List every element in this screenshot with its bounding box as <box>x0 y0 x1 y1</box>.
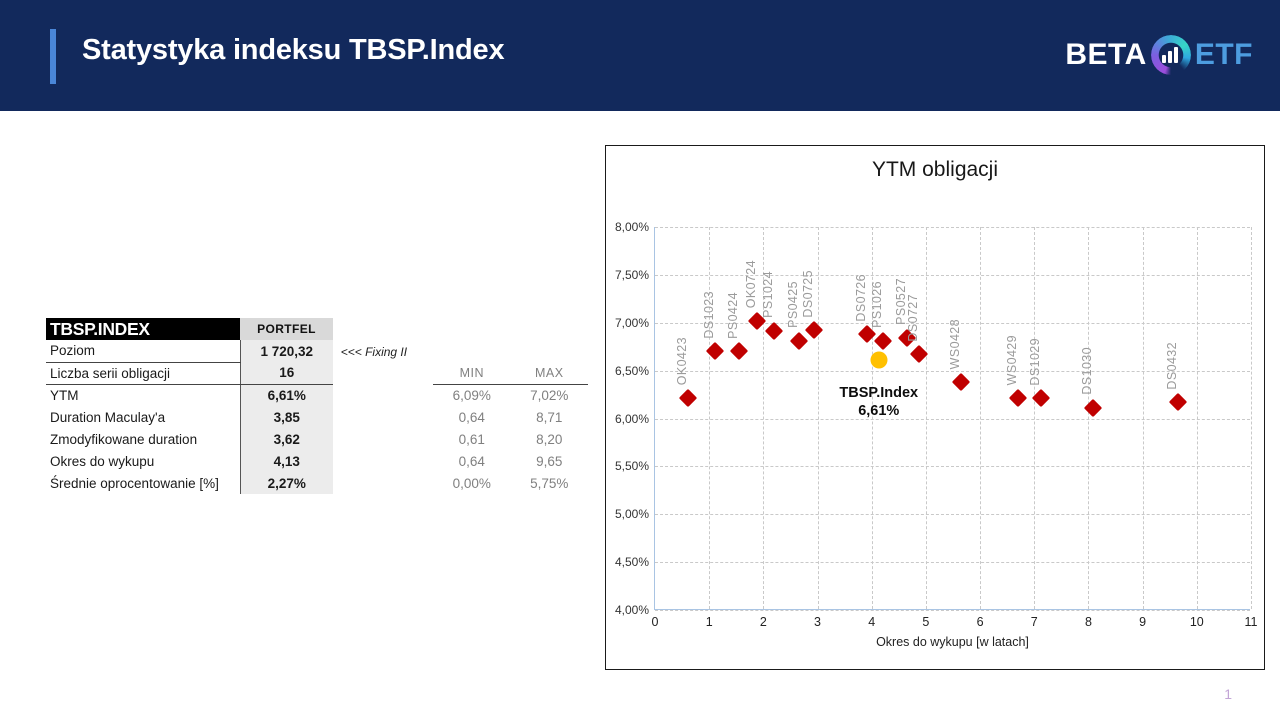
row-min-2: 6,09% <box>433 384 510 406</box>
gridline-horizontal <box>655 419 1250 420</box>
row-max-2: 7,02% <box>511 384 588 406</box>
row-label-4: Zmodyfikowane duration <box>46 428 240 450</box>
x-axis-tick-label: 11 <box>1245 615 1258 629</box>
chart-title: YTM obligacji <box>606 158 1264 182</box>
row-portfel-5: 4,13 <box>240 450 332 472</box>
annotation-line-1: TBSP.Index <box>839 384 918 402</box>
row-note-2 <box>333 384 433 406</box>
point-label-ds0725: DS0725 <box>801 270 815 318</box>
point-label-ok0724: OK0724 <box>744 260 758 308</box>
header-accent-bar <box>50 29 56 84</box>
slide-header: Statystyka indeksu TBSP.Index BETA ETF <box>0 0 1280 111</box>
row-note-0: <<< Fixing II <box>333 340 433 362</box>
bars-icon <box>1162 47 1178 63</box>
table-row: Okres do wykupu4,130,649,65 <box>46 450 588 472</box>
table-row: Zmodyfikowane duration3,620,618,20 <box>46 428 588 450</box>
gridline-horizontal <box>655 227 1250 228</box>
beta-etf-logo: BETA ETF <box>1065 33 1253 77</box>
row-min-3: 0,64 <box>433 406 510 428</box>
gridline-horizontal <box>655 466 1250 467</box>
point-label-ds0432: DS0432 <box>1165 342 1179 390</box>
data-point-ps0424 <box>730 342 748 360</box>
row-label-6: Średnie oprocentowanie [%] <box>46 472 240 494</box>
logo-text-etf: ETF <box>1195 40 1253 70</box>
row-portfel-4: 3,62 <box>240 428 332 450</box>
gridline-vertical <box>709 227 710 609</box>
x-axis-tick-label: 9 <box>1139 615 1146 629</box>
gridline-vertical <box>1197 227 1198 609</box>
row-note-3 <box>333 406 433 428</box>
row-max-4: 8,20 <box>511 428 588 450</box>
row-label-5: Okres do wykupu <box>46 450 240 472</box>
column-header-portfel: PORTFEL <box>240 318 332 340</box>
row-label-1: Liczba serii obligacji <box>46 362 240 384</box>
point-label-ws0428: WS0428 <box>948 319 962 369</box>
x-axis-tick-label: 6 <box>977 615 984 629</box>
data-point-ds0725 <box>805 321 823 339</box>
gridline-vertical <box>1143 227 1144 609</box>
y-axis-tick-label: 6,00% <box>615 412 649 426</box>
row-portfel-0: 1 720,32 <box>240 340 332 362</box>
row-min-5: 0,64 <box>433 450 510 472</box>
table-row: Duration Maculay'a3,850,648,71 <box>46 406 588 428</box>
point-label-ps0424: PS0424 <box>726 292 740 339</box>
y-axis-tick-label: 5,00% <box>615 507 649 521</box>
point-label-ds0726: DS0726 <box>854 274 868 322</box>
row-min-0 <box>433 340 510 362</box>
x-axis-tick-label: 3 <box>814 615 821 629</box>
y-axis-tick-label: 7,00% <box>615 316 649 330</box>
gridline-horizontal <box>655 514 1250 515</box>
x-axis-tick-label: 2 <box>760 615 767 629</box>
tbsp-statistics-table: TBSP.INDEXPORTFELPoziom1 720,32<<< Fixin… <box>46 318 588 494</box>
data-point-ps1024 <box>765 322 783 340</box>
row-max-5: 9,65 <box>511 450 588 472</box>
data-point-tbsp.index <box>870 352 887 369</box>
fixing-note: <<< Fixing II <box>341 345 407 359</box>
x-axis-tick-label: 5 <box>922 615 929 629</box>
point-label-ps1024: PS1024 <box>761 271 775 318</box>
row-note-1 <box>333 362 433 384</box>
x-axis-tick-label: 10 <box>1190 615 1204 629</box>
row-portfel-6: 2,27% <box>240 472 332 494</box>
row-min-1: MIN <box>433 362 510 384</box>
gridline-vertical <box>1088 227 1089 609</box>
tbsp-index-annotation: TBSP.Index 6,61% <box>839 384 918 420</box>
gridline-horizontal <box>655 371 1250 372</box>
point-label-ws0429: WS0429 <box>1005 335 1019 385</box>
point-label-ds1029: DS1029 <box>1028 338 1042 386</box>
data-point-ps1026 <box>873 332 891 350</box>
table-row: Poziom1 720,32<<< Fixing II <box>46 340 588 362</box>
data-point-ds0727 <box>910 345 928 363</box>
point-label-ds1023: DS1023 <box>702 291 716 339</box>
data-point-ws0428 <box>952 373 970 391</box>
point-label-ps0425: PS0425 <box>786 281 800 328</box>
gridline-vertical <box>818 227 819 609</box>
table-row: Średnie oprocentowanie [%]2,27%0,00%5,75… <box>46 472 588 494</box>
y-axis-tick-label: 4,50% <box>615 555 649 569</box>
row-min-6: 0,00% <box>433 472 510 494</box>
data-point-ws0429 <box>1009 389 1027 407</box>
row-note-6 <box>333 472 433 494</box>
page-title: Statystyka indeksu TBSP.Index <box>82 34 504 67</box>
chart-x-axis-label: Okres do wykupu [w latach] <box>655 635 1250 649</box>
x-axis-tick-label: 0 <box>652 615 659 629</box>
row-note-4 <box>333 428 433 450</box>
slide-root: Statystyka indeksu TBSP.Index BETA ETF T… <box>0 0 1280 720</box>
row-note-5 <box>333 450 433 472</box>
data-point-ds0432 <box>1169 393 1187 411</box>
chart-plot-area: 4,00%4,50%5,00%5,50%6,00%6,50%7,00%7,50%… <box>654 227 1250 610</box>
gridline-vertical <box>1251 227 1252 609</box>
y-axis-tick-label: 4,00% <box>615 603 649 617</box>
gridline-vertical <box>1034 227 1035 609</box>
point-label-ds0727: DS0727 <box>906 294 920 342</box>
y-axis-tick-label: 7,50% <box>615 268 649 282</box>
y-axis-tick-label: 5,50% <box>615 459 649 473</box>
bar-chart-ring-icon <box>1151 35 1191 75</box>
data-point-ds1030 <box>1084 399 1102 417</box>
y-axis-tick-label: 6,50% <box>615 364 649 378</box>
row-label-2: YTM <box>46 384 240 406</box>
gridline-vertical <box>980 227 981 609</box>
table-row: Liczba serii obligacji16MINMAX <box>46 362 588 384</box>
data-point-ok0423 <box>678 389 696 407</box>
table-header-max-blank <box>511 318 588 340</box>
table-header-min-blank <box>433 318 510 340</box>
data-point-ds1023 <box>705 342 723 360</box>
point-label-ds1030: DS1030 <box>1080 347 1094 395</box>
x-axis-tick-label: 1 <box>706 615 713 629</box>
point-label-ok0423: OK0423 <box>675 337 689 385</box>
point-label-ps1026: PS1026 <box>870 281 884 328</box>
row-min-4: 0,61 <box>433 428 510 450</box>
row-portfel-1: 16 <box>240 362 332 384</box>
row-max-6: 5,75% <box>511 472 588 494</box>
data-point-ps0425 <box>789 332 807 350</box>
table-header-row: TBSP.INDEXPORTFEL <box>46 318 588 340</box>
row-portfel-2: 6,61% <box>240 384 332 406</box>
row-max-3: 8,71 <box>511 406 588 428</box>
ytm-chart-panel: YTM obligacji 4,00%4,50%5,00%5,50%6,00%6… <box>605 145 1265 670</box>
row-label-3: Duration Maculay'a <box>46 406 240 428</box>
row-portfel-3: 3,85 <box>240 406 332 428</box>
logo-text-beta: BETA <box>1065 40 1146 70</box>
x-axis-tick-label: 4 <box>868 615 875 629</box>
gridline-horizontal <box>655 610 1250 611</box>
x-axis-tick-label: 8 <box>1085 615 1092 629</box>
table-title: TBSP.INDEX <box>46 318 240 340</box>
page-number: 1 <box>1224 686 1232 702</box>
table-header-note <box>333 318 433 340</box>
table-row: YTM6,61%6,09%7,02% <box>46 384 588 406</box>
row-label-0: Poziom <box>46 340 240 362</box>
x-axis-tick-label: 7 <box>1031 615 1038 629</box>
gridline-vertical <box>926 227 927 609</box>
gridline-horizontal <box>655 562 1250 563</box>
row-max-0 <box>511 340 588 362</box>
annotation-line-2: 6,61% <box>839 402 918 420</box>
data-point-ds1029 <box>1032 389 1050 407</box>
row-max-1: MAX <box>511 362 588 384</box>
y-axis-tick-label: 8,00% <box>615 220 649 234</box>
